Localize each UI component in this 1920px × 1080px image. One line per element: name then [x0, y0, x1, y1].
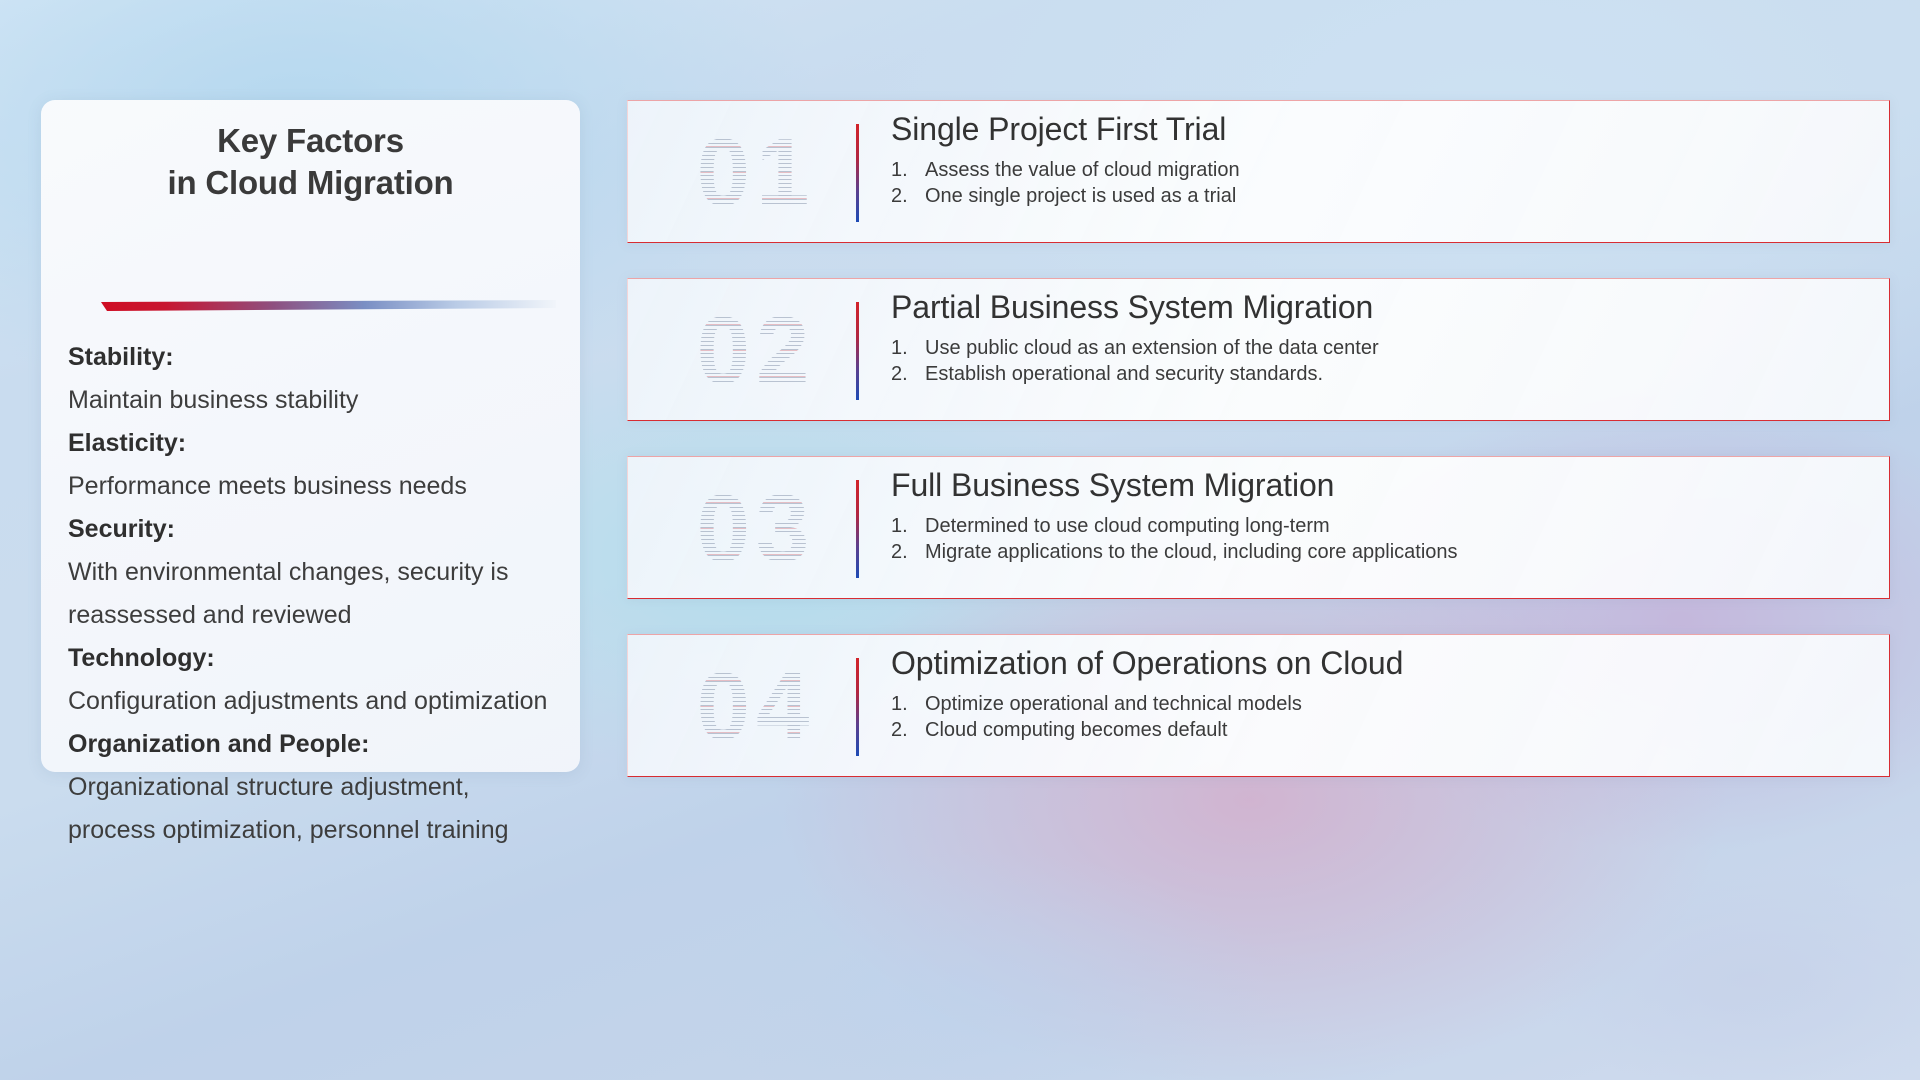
list-item-text: Cloud computing becomes default: [925, 717, 1873, 743]
factor-description: Organizational structure adjustment, pro…: [68, 766, 562, 852]
stage-title: Partial Business System Migration: [891, 287, 1873, 329]
list-item: 2. One single project is used as a trial: [891, 183, 1873, 209]
list-item-text: One single project is used as a trial: [925, 183, 1873, 209]
list-item-text: Optimize operational and technical model…: [925, 691, 1873, 717]
factor-item: Elasticity: Performance meets business n…: [68, 422, 562, 508]
list-item-marker: 2.: [891, 539, 925, 565]
factor-description: With environmental changes, security is …: [68, 551, 562, 637]
list-item-text: Migrate applications to the cloud, inclu…: [925, 539, 1873, 565]
list-item-text: Establish operational and security stand…: [925, 361, 1873, 387]
list-item: 2. Cloud computing becomes default: [891, 717, 1873, 743]
list-item: 1. Assess the value of cloud migration: [891, 157, 1873, 183]
factor-description: Configuration adjustments and optimizati…: [68, 680, 562, 723]
factor-term: Technology:: [68, 637, 562, 680]
list-item: 1. Optimize operational and technical mo…: [891, 691, 1873, 717]
accent-divider: [856, 480, 859, 578]
accent-divider: [856, 658, 859, 756]
list-item: 1. Use public cloud as an extension of t…: [891, 335, 1873, 361]
factor-description: Performance meets business needs: [68, 465, 562, 508]
factor-term: Elasticity:: [68, 422, 562, 465]
page-title-line1: Key Factors: [41, 120, 580, 162]
factor-item: Technology: Configuration adjustments an…: [68, 637, 562, 723]
stage-bullet-list: 1. Use public cloud as an extension of t…: [891, 335, 1873, 388]
list-item-marker: 2.: [891, 717, 925, 743]
slide-canvas: Key Factors in Cloud Migration Stability…: [0, 0, 1920, 1080]
page-title-line2: in Cloud Migration: [41, 162, 580, 204]
list-item-marker: 1.: [891, 157, 925, 183]
stage-title: Optimization of Operations on Cloud: [891, 643, 1873, 685]
accent-divider: [856, 302, 859, 400]
stage-number-04-tint: 04: [661, 645, 851, 768]
stage-card-04[interactable]: 04 04 Optimization of Operations on Clou…: [627, 634, 1890, 777]
stage-number-02-tint: 02: [661, 289, 851, 412]
list-item-marker: 2.: [891, 183, 925, 209]
list-item: 2. Migrate applications to the cloud, in…: [891, 539, 1873, 565]
list-item-marker: 2.: [891, 361, 925, 387]
stage-number-01-tint: 01: [661, 111, 851, 234]
key-factors-list: Stability: Maintain business stability E…: [68, 336, 562, 852]
factor-item: Security: With environmental changes, se…: [68, 508, 562, 637]
list-item-marker: 1.: [891, 691, 925, 717]
list-item-text: Assess the value of cloud migration: [925, 157, 1873, 183]
list-item-text: Determined to use cloud computing long-t…: [925, 513, 1873, 539]
stage-card-02[interactable]: 02 02 Partial Business System Migration …: [627, 278, 1890, 421]
migration-stage-cards: 01 01 Single Project First Trial 1. Asse…: [627, 100, 1890, 777]
list-item-marker: 1.: [891, 335, 925, 361]
stage-card-03[interactable]: 03 03 Full Business System Migration 1. …: [627, 456, 1890, 599]
list-item-marker: 1.: [891, 513, 925, 539]
factor-description: Maintain business stability: [68, 379, 562, 422]
stage-title: Full Business System Migration: [891, 465, 1873, 507]
list-item: 2. Establish operational and security st…: [891, 361, 1873, 387]
stage-card-01[interactable]: 01 01 Single Project First Trial 1. Asse…: [627, 100, 1890, 243]
factor-item: Stability: Maintain business stability: [68, 336, 562, 422]
factor-term: Organization and People:: [68, 723, 562, 766]
stage-bullet-list: 1. Assess the value of cloud migration 2…: [891, 157, 1873, 210]
factor-term: Security:: [68, 508, 562, 551]
title-underline-gradient: [101, 300, 556, 311]
stage-bullet-list: 1. Optimize operational and technical mo…: [891, 691, 1873, 744]
factor-term: Stability:: [68, 336, 562, 379]
key-factors-panel: Key Factors in Cloud Migration Stability…: [41, 100, 580, 772]
factor-item: Organization and People: Organizational …: [68, 723, 562, 852]
stage-bullet-list: 1. Determined to use cloud computing lon…: [891, 513, 1873, 566]
list-item: 1. Determined to use cloud computing lon…: [891, 513, 1873, 539]
stage-number-03-tint: 03: [661, 467, 851, 590]
stage-title: Single Project First Trial: [891, 109, 1873, 151]
list-item-text: Use public cloud as an extension of the …: [925, 335, 1873, 361]
accent-divider: [856, 124, 859, 222]
page-title: Key Factors in Cloud Migration: [41, 100, 580, 204]
